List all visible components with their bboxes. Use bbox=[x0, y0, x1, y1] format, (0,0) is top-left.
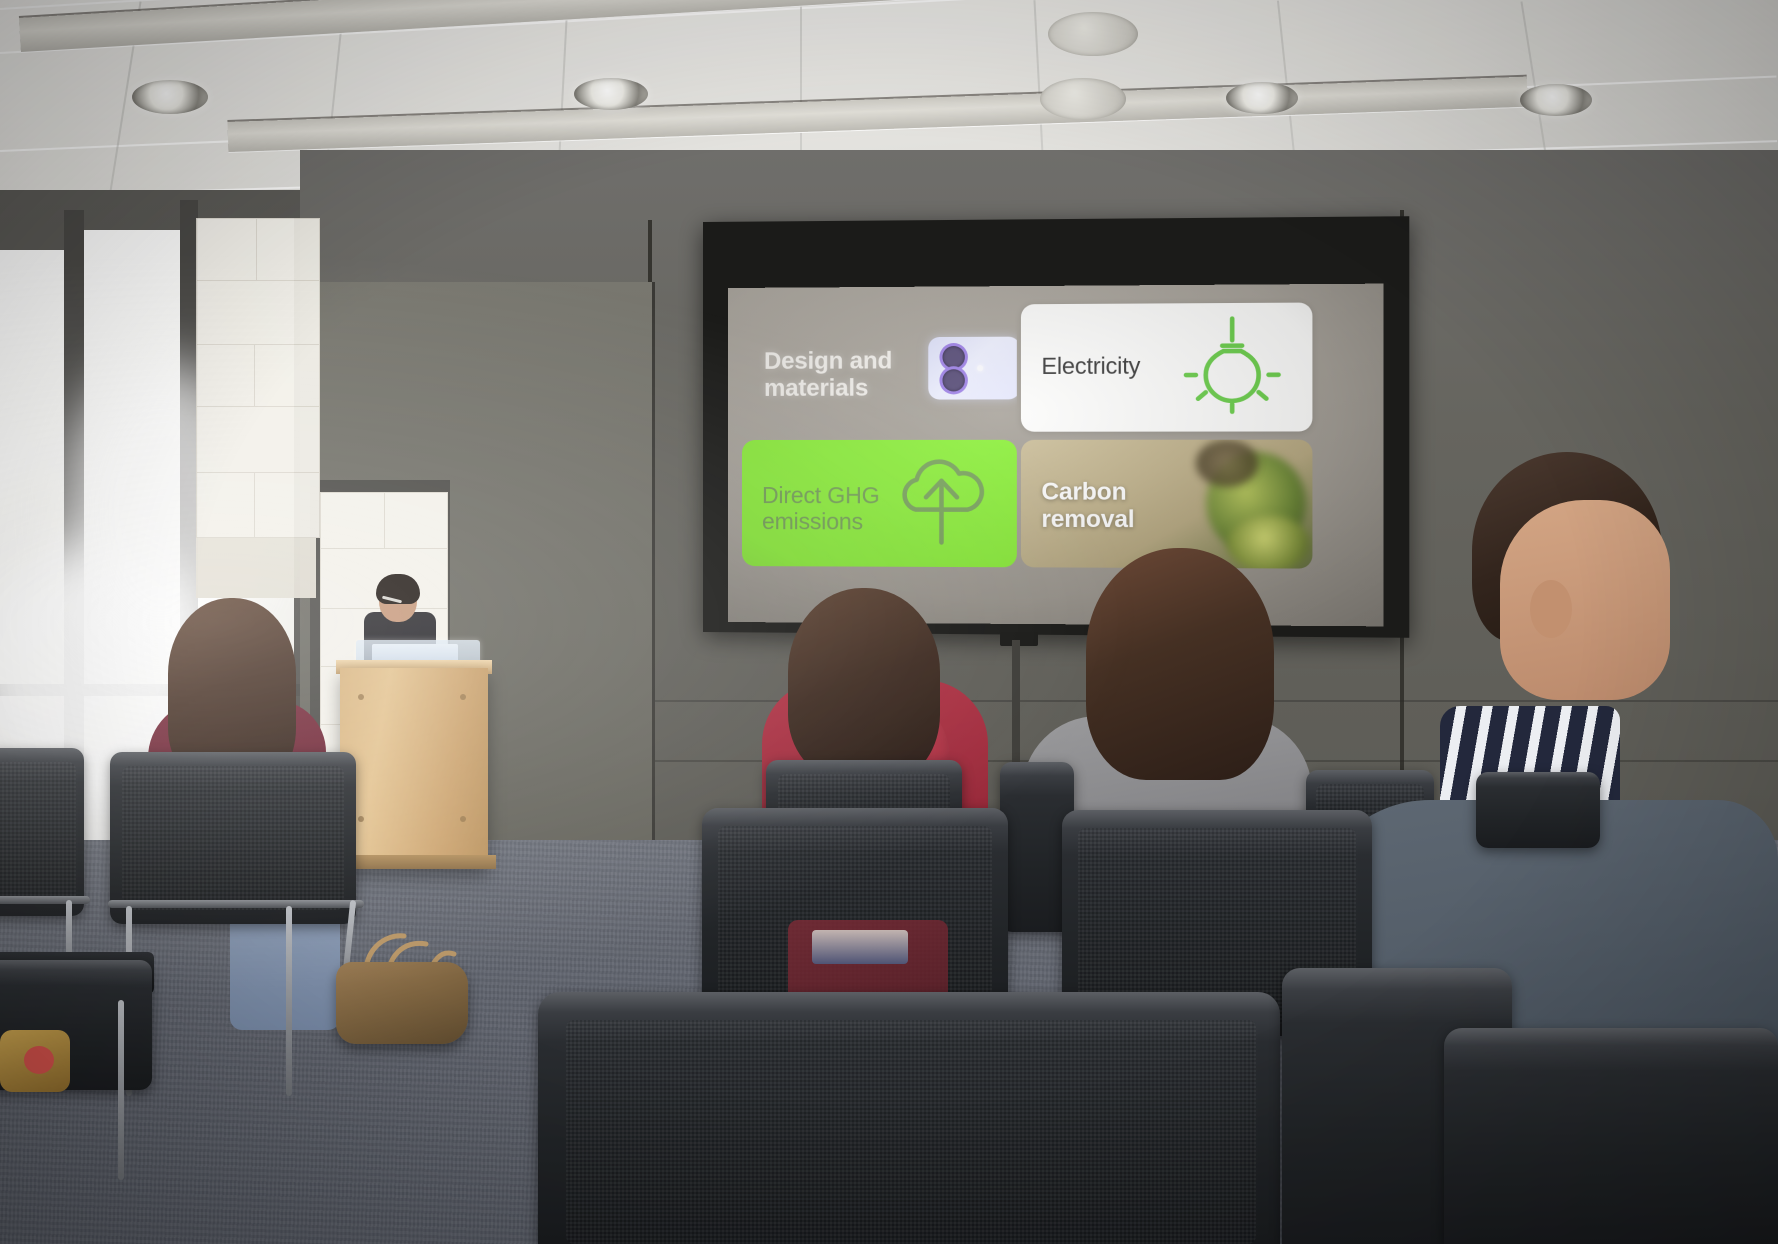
chair-back bbox=[1444, 1028, 1778, 1244]
attendee-far-right-head bbox=[1500, 500, 1670, 700]
chair-rail bbox=[0, 896, 90, 904]
bag-ornament-icon bbox=[24, 1046, 54, 1074]
slide-tile-direct-ghg-emissions: Direct GHG emissions bbox=[742, 440, 1017, 567]
chair-leg bbox=[118, 1000, 124, 1180]
ceiling-speaker-icon bbox=[1048, 12, 1138, 56]
slide-tile-label: Direct GHG emissions bbox=[762, 482, 880, 534]
slide-tile-design-and-materials: Design and materials bbox=[742, 304, 1017, 432]
aerial-landscape-photo bbox=[1227, 515, 1310, 568]
slide-tile-label: Electricity bbox=[1041, 352, 1140, 379]
attendee-far-right-ear bbox=[1530, 580, 1572, 638]
slide-tile-electricity: Electricity bbox=[1021, 303, 1313, 432]
recessed-downlight-icon bbox=[132, 80, 208, 114]
chair-mesh bbox=[566, 1020, 1256, 1244]
projection-screen: Design and materials Electricity bbox=[728, 284, 1384, 627]
aerial-landscape-photo bbox=[1196, 440, 1258, 487]
iphone-camera-icon bbox=[928, 337, 1017, 400]
exterior-stone-wall bbox=[196, 218, 316, 598]
slide-tile-label: Design and materials bbox=[764, 347, 892, 402]
chair-mesh bbox=[122, 766, 344, 910]
ceiling-air-diffuser bbox=[227, 77, 1527, 152]
slide-tile-label: Carbon removal bbox=[1041, 478, 1134, 533]
ceiling-air-diffuser bbox=[19, 0, 1508, 52]
tote-bag bbox=[336, 962, 468, 1044]
photo-scene: Design and materials Electricity bbox=[0, 0, 1778, 1244]
recessed-downlight-icon bbox=[1226, 82, 1298, 114]
logo-on-coat bbox=[812, 930, 908, 964]
podium bbox=[340, 668, 488, 868]
attendee-center-hair bbox=[788, 588, 940, 778]
ceiling-speaker-icon bbox=[1040, 78, 1126, 120]
recessed-downlight-icon bbox=[1520, 84, 1592, 116]
chair-back bbox=[1476, 772, 1600, 848]
attendee-right-center-hair bbox=[1086, 548, 1274, 780]
chair-leg bbox=[286, 906, 292, 1096]
recessed-downlight-icon bbox=[574, 78, 648, 110]
lightbulb-icon bbox=[1177, 311, 1287, 422]
chair-rail bbox=[108, 900, 364, 908]
podium-base bbox=[332, 855, 496, 869]
cloud-upload-arrow-icon bbox=[885, 446, 999, 557]
chair-mesh bbox=[0, 762, 76, 904]
